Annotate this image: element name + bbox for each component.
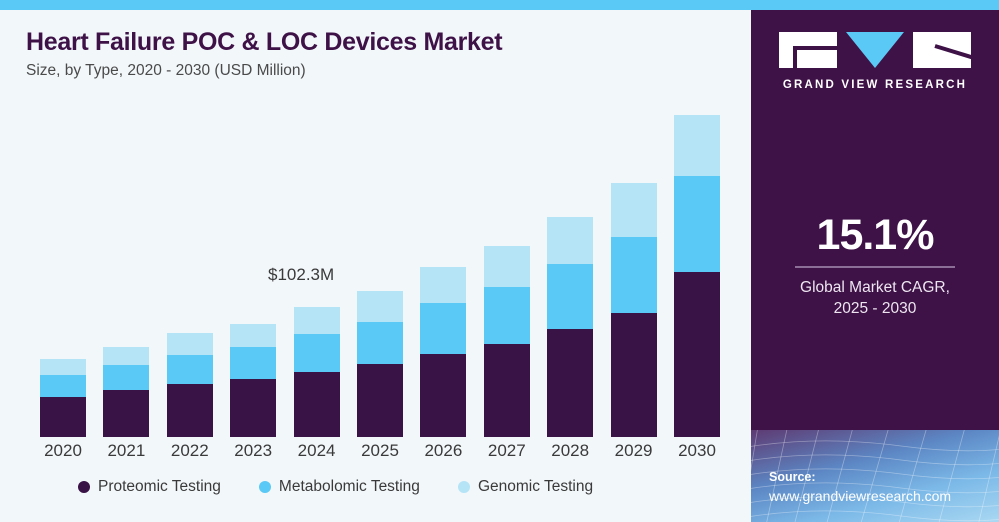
bar-segment-genomic-2029[interactable]: [611, 183, 657, 237]
bar-group-2023[interactable]: [230, 324, 276, 438]
bar-segment-proteomic-2022[interactable]: [167, 384, 213, 437]
bar-segment-proteomic-2024[interactable]: [294, 372, 340, 437]
bar-segment-metabolomic-2026[interactable]: [420, 303, 466, 353]
bar-segment-metabolomic-2027[interactable]: [484, 287, 530, 344]
bar-group-2026[interactable]: [420, 267, 466, 437]
bar-segment-metabolomic-2023[interactable]: [230, 347, 276, 379]
bar-group-2027[interactable]: [484, 246, 530, 437]
bar-segment-metabolomic-2024[interactable]: [294, 334, 340, 372]
cagr-value: 15.1%: [751, 214, 999, 257]
gvr-v-triangle-icon: [846, 32, 904, 68]
logo-marks: [779, 32, 971, 68]
bar-segment-genomic-2023[interactable]: [230, 324, 276, 347]
stacked-bar-chart: 2020202120222023202420252026202720282029…: [0, 10, 751, 522]
legend-item-0[interactable]: Proteomic Testing: [78, 478, 221, 496]
bar-segment-metabolomic-2025[interactable]: [357, 322, 403, 365]
bar-segment-genomic-2024[interactable]: [294, 307, 340, 334]
bar-segment-genomic-2027[interactable]: [484, 246, 530, 287]
x-axis-label-2026: 2026: [408, 441, 478, 461]
bar-segment-genomic-2020[interactable]: [40, 359, 86, 375]
cagr-divider: [795, 266, 955, 268]
bar-segment-proteomic-2029[interactable]: [611, 313, 657, 437]
bar-segment-proteomic-2025[interactable]: [357, 364, 403, 437]
bar-segment-proteomic-2023[interactable]: [230, 379, 276, 437]
x-axis-label-2022: 2022: [155, 441, 225, 461]
infographic-root: Heart Failure POC & LOC Devices Market S…: [0, 0, 999, 522]
legend-item-1[interactable]: Metabolomic Testing: [259, 478, 420, 496]
source-label: Source:: [769, 468, 951, 486]
bar-group-2025[interactable]: [357, 291, 403, 437]
bar-segment-metabolomic-2028[interactable]: [547, 264, 593, 330]
x-axis-label-2028: 2028: [535, 441, 605, 461]
legend-swatch-icon: [259, 481, 271, 493]
mesh-footer-graphic: Source: www.grandviewresearch.com: [751, 430, 999, 522]
top-accent-band: [0, 0, 999, 10]
bar-segment-genomic-2026[interactable]: [420, 267, 466, 303]
bar-group-2030[interactable]: [674, 115, 720, 437]
brand-logo: GRAND VIEW RESEARCH: [751, 32, 999, 91]
value-annotation-label: $102.3M: [268, 265, 334, 285]
chart-region: Heart Failure POC & LOC Devices Market S…: [0, 10, 751, 522]
bar-segment-proteomic-2020[interactable]: [40, 397, 86, 437]
brand-logo-text: GRAND VIEW RESEARCH: [783, 79, 967, 91]
gvr-g-block-icon: [779, 32, 837, 68]
x-axis-label-2027: 2027: [472, 441, 542, 461]
gvr-r-block-icon: [913, 32, 971, 68]
bar-segment-proteomic-2026[interactable]: [420, 354, 466, 437]
x-axis-label-2030: 2030: [662, 441, 732, 461]
legend-label: Metabolomic Testing: [279, 478, 420, 496]
source-block: Source: www.grandviewresearch.com: [769, 468, 951, 506]
bar-segment-genomic-2028[interactable]: [547, 217, 593, 264]
bar-segment-proteomic-2027[interactable]: [484, 344, 530, 437]
bar-segment-metabolomic-2022[interactable]: [167, 355, 213, 384]
bar-group-2021[interactable]: [103, 347, 149, 437]
legend-swatch-icon: [78, 481, 90, 493]
legend-swatch-icon: [458, 481, 470, 493]
bar-group-2029[interactable]: [611, 183, 657, 437]
x-axis-label-2023: 2023: [218, 441, 288, 461]
x-axis-label-2020: 2020: [28, 441, 98, 461]
x-axis-label-2024: 2024: [282, 441, 352, 461]
bar-segment-proteomic-2030[interactable]: [674, 272, 720, 437]
bar-segment-metabolomic-2030[interactable]: [674, 176, 720, 272]
bar-segment-proteomic-2021[interactable]: [103, 390, 149, 437]
bar-segment-proteomic-2028[interactable]: [547, 329, 593, 437]
bar-group-2024[interactable]: [294, 307, 340, 437]
bar-segment-genomic-2021[interactable]: [103, 347, 149, 365]
cagr-caption-line1: Global Market CAGR,: [751, 278, 999, 299]
brand-side-panel: GRAND VIEW RESEARCH 15.1% Global Market …: [751, 10, 999, 522]
source-url: www.grandviewresearch.com: [769, 486, 951, 506]
x-axis-label-2025: 2025: [345, 441, 415, 461]
chart-legend: Proteomic TestingMetabolomic TestingGeno…: [78, 478, 593, 496]
legend-label: Genomic Testing: [478, 478, 593, 496]
x-axis-label-2021: 2021: [91, 441, 161, 461]
bar-segment-metabolomic-2029[interactable]: [611, 237, 657, 314]
legend-item-2[interactable]: Genomic Testing: [458, 478, 593, 496]
cagr-stat-block: 15.1% Global Market CAGR, 2025 - 2030: [751, 214, 999, 320]
legend-label: Proteomic Testing: [98, 478, 221, 496]
bar-group-2022[interactable]: [167, 333, 213, 437]
bar-segment-metabolomic-2020[interactable]: [40, 375, 86, 397]
bar-segment-genomic-2025[interactable]: [357, 291, 403, 322]
bar-group-2020[interactable]: [40, 359, 86, 437]
cagr-caption-line2: 2025 - 2030: [751, 299, 999, 320]
bar-group-2028[interactable]: [547, 217, 593, 437]
bar-segment-metabolomic-2021[interactable]: [103, 365, 149, 390]
x-axis-label-2029: 2029: [599, 441, 669, 461]
bar-segment-genomic-2022[interactable]: [167, 333, 213, 354]
bar-segment-genomic-2030[interactable]: [674, 115, 720, 176]
